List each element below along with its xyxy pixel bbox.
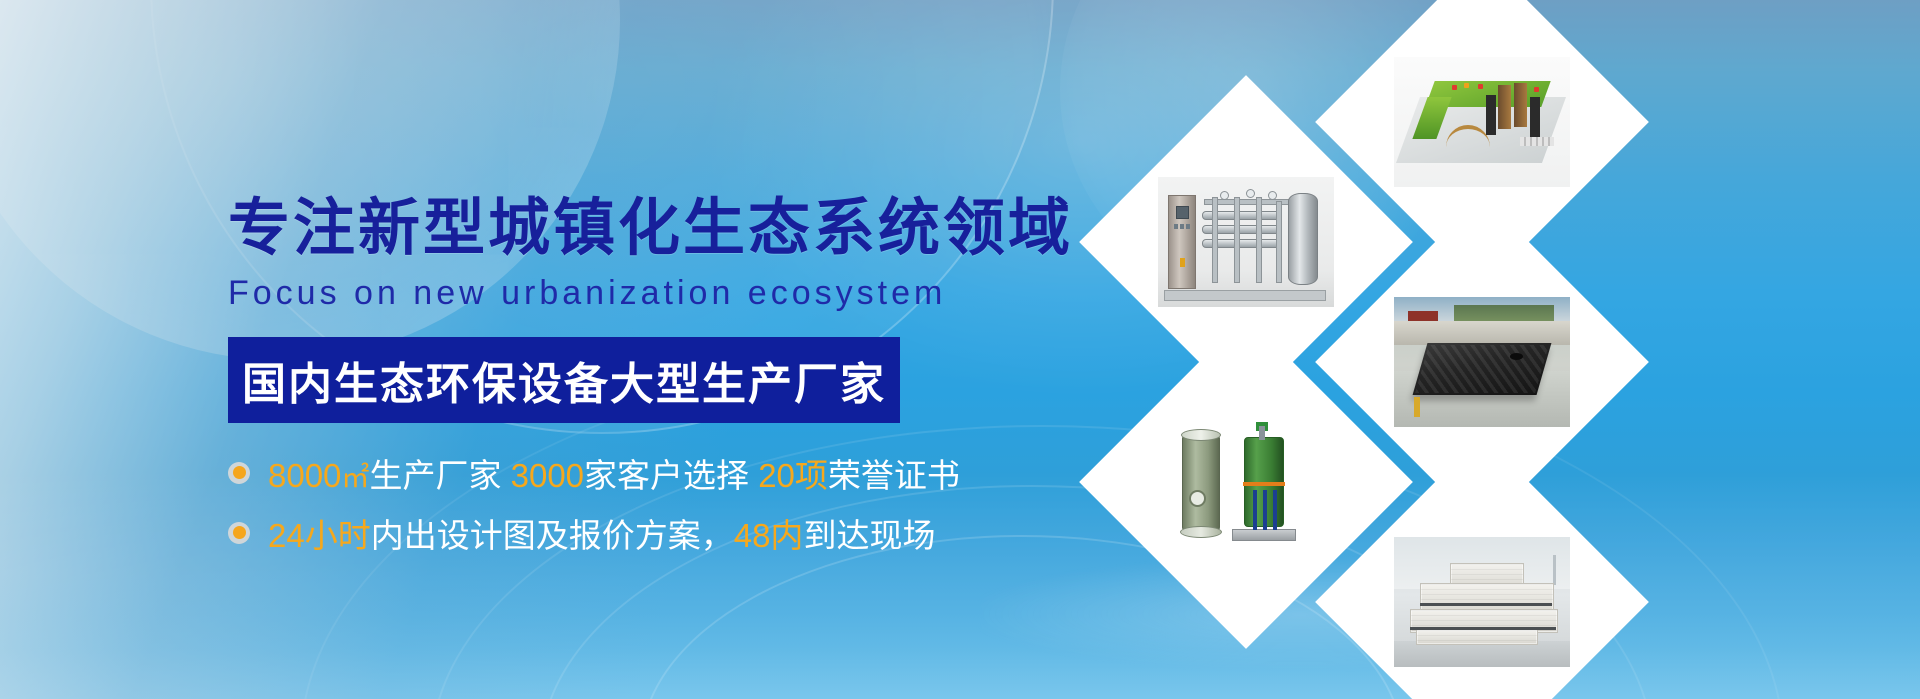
bullet-1-clients-value: 3000 [511, 457, 584, 494]
bullet-2-arrive-suffix: 到达现场 [803, 517, 935, 554]
bullet-1-area-value: 8000 [268, 457, 341, 494]
subheadline-english: Focus on new urbanization ecosystem [228, 274, 1088, 313]
ribbon-banner: 国内生态环保设备大型生产厂家 [228, 337, 900, 423]
feature-bullet-list: 8000㎡生产厂家 3000家客户选择 20项荣誉证书 24小时内出设计图及报价… [228, 449, 1088, 557]
photo-black-modular-tank [1394, 297, 1570, 427]
bullet-1-clients-suffix: 家客户选择 [584, 457, 749, 494]
photo-green-integrated-equipment [1394, 57, 1570, 187]
bullet-line-2: 24小时内出设计图及报价方案，48内到达现场 [268, 509, 935, 557]
bullet-1-certs-unit: 项 [795, 457, 828, 494]
photo-stacked-aac-panels [1394, 537, 1570, 667]
bullet-2-hours-suffix: 内出设计图及报价方案， [371, 517, 734, 554]
bullet-1-area-unit: ㎡ [341, 462, 369, 493]
bullet-2-hours-value: 24小时 [268, 517, 371, 554]
photo-cylindrical-pump-station [1158, 417, 1334, 547]
hero-banner: 专注新型城镇化生态系统领域 Focus on new urbanization … [0, 0, 1920, 699]
bullet-1-certs-value: 20 [758, 457, 795, 494]
bullet-line-1: 8000㎡生产厂家 3000家客户选择 20项荣誉证书 [268, 449, 960, 497]
headline: 专注新型城镇化生态系统领域 [228, 196, 1088, 262]
bullet-dot-icon [228, 462, 250, 484]
product-diamond-collage [1128, 64, 1828, 604]
photo-ro-water-treatment-skid [1158, 177, 1334, 307]
list-item: 24小时内出设计图及报价方案，48内到达现场 [228, 509, 1088, 557]
bullet-dot-icon [228, 522, 250, 544]
ribbon-text: 国内生态环保设备大型生产厂家 [242, 348, 886, 412]
list-item: 8000㎡生产厂家 3000家客户选择 20项荣誉证书 [228, 449, 1088, 497]
bullet-1-area-suffix: 生产厂家 [369, 457, 501, 494]
bullet-2-arrive-value: 48内 [734, 517, 804, 554]
bullet-1-certs-suffix: 荣誉证书 [828, 457, 960, 494]
banner-copy-block: 专注新型城镇化生态系统领域 Focus on new urbanization … [228, 196, 1088, 569]
